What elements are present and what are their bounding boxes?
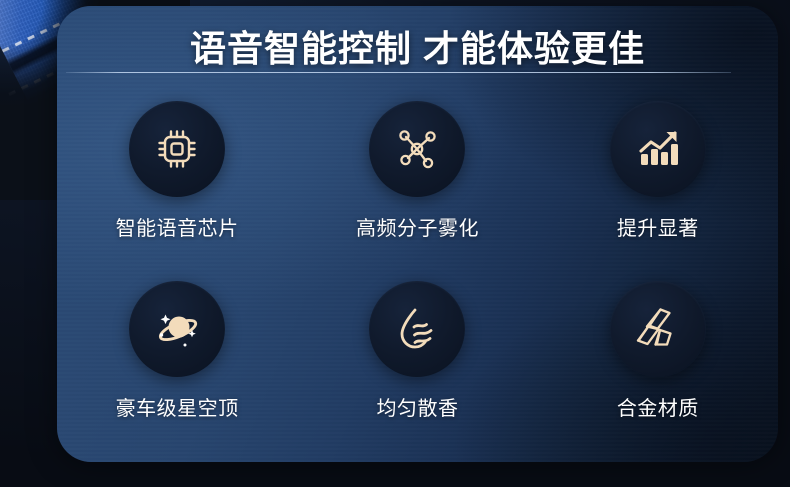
feature-label: 智能语音芯片	[116, 212, 239, 241]
icon-circle	[369, 281, 465, 377]
page-title: 语音智能控制 才能体验更佳	[57, 20, 778, 72]
feature-label: 豪车级星空顶	[116, 392, 239, 421]
icon-circle	[610, 101, 706, 197]
title-divider	[66, 72, 731, 73]
feature-item-molecule[interactable]: 高频分子雾化	[297, 101, 537, 281]
icon-circle	[129, 281, 225, 377]
feature-item-planet[interactable]: 豪车级星空顶	[57, 281, 297, 461]
molecule-icon	[392, 124, 442, 174]
growth-chart-icon	[633, 124, 683, 174]
feature-item-diffusion[interactable]: 均匀散香	[297, 281, 537, 461]
water-drop-diffusion-icon	[392, 304, 442, 354]
feature-item-chip[interactable]: 智能语音芯片	[57, 101, 297, 281]
metal-ingots-icon	[633, 304, 683, 354]
feature-card: 语音智能控制 才能体验更佳	[57, 6, 778, 462]
feature-label: 提升显著	[617, 212, 699, 241]
promo-banner: 语音智能控制 才能体验更佳	[0, 0, 790, 487]
feature-item-growth[interactable]: 提升显著	[538, 101, 778, 281]
feature-label: 高频分子雾化	[356, 212, 479, 241]
feature-item-alloy[interactable]: 合金材质	[538, 281, 778, 461]
feature-label: 均匀散香	[376, 392, 458, 421]
icon-circle	[369, 101, 465, 197]
icon-circle	[129, 101, 225, 197]
icon-circle	[610, 281, 706, 377]
planet-icon	[152, 304, 202, 354]
chip-icon	[152, 124, 202, 174]
feature-grid: 智能语音芯片	[57, 101, 778, 461]
feature-label: 合金材质	[617, 392, 699, 421]
